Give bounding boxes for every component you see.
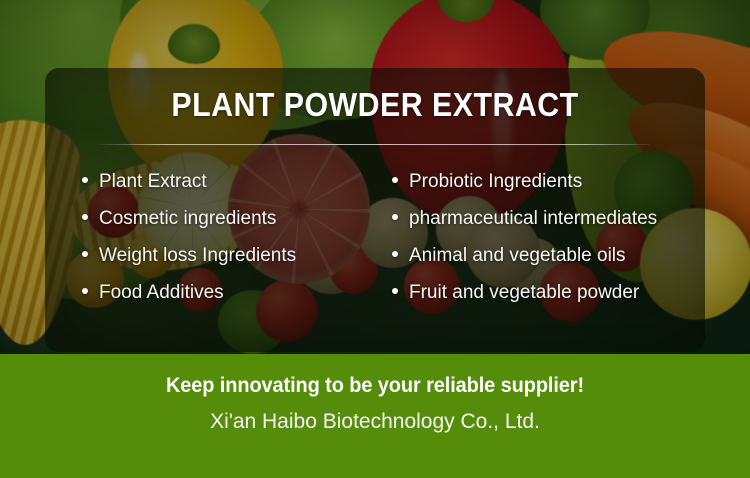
page-title: PLANT POWDER EXTRACT [71, 88, 678, 121]
bullet-icon [392, 177, 398, 183]
list-item[interactable]: Probiotic Ingredients [392, 172, 705, 209]
list-item-label: pharmaceutical intermediates [409, 209, 657, 228]
product-banner: PLANT POWDER EXTRACT Plant Extract Cosme… [0, 0, 750, 478]
bullet-icon [82, 251, 88, 257]
list-item-label: Fruit and vegetable powder [409, 283, 639, 302]
list-item[interactable]: Plant Extract [82, 172, 375, 209]
product-column-left: Plant Extract Cosmetic ingredients Weigh… [45, 172, 375, 320]
list-item[interactable]: Fruit and vegetable powder [392, 283, 705, 320]
title-divider [100, 144, 650, 145]
list-item-label: Weight loss Ingredients [99, 246, 296, 265]
footer-band: Keep innovating to be your reliable supp… [0, 354, 750, 478]
footer-slogan: Keep innovating to be your reliable supp… [19, 374, 732, 398]
bullet-icon [82, 214, 88, 220]
list-item-label: Cosmetic ingredients [99, 209, 276, 228]
list-item-label: Probiotic Ingredients [409, 172, 582, 191]
bullet-icon [82, 177, 88, 183]
bullet-icon [82, 288, 88, 294]
company-name: Xi'an Haibo Biotechnology Co., Ltd. [0, 410, 750, 434]
pepper-stem [168, 24, 220, 64]
list-item[interactable]: Cosmetic ingredients [82, 209, 375, 246]
list-item-label: Food Additives [99, 283, 224, 302]
product-category-columns: Plant Extract Cosmetic ingredients Weigh… [45, 172, 705, 320]
list-item-label: Plant Extract [99, 172, 207, 191]
product-column-right: Probiotic Ingredients pharmaceutical int… [375, 172, 705, 320]
list-item[interactable]: Food Additives [82, 283, 375, 320]
content-panel: PLANT POWDER EXTRACT Plant Extract Cosme… [45, 68, 705, 352]
list-item[interactable]: Animal and vegetable oils [392, 246, 705, 283]
list-item-label: Animal and vegetable oils [409, 246, 626, 265]
bullet-icon [392, 251, 398, 257]
list-item[interactable]: Weight loss Ingredients [82, 246, 375, 283]
bullet-icon [392, 214, 398, 220]
list-item[interactable]: pharmaceutical intermediates [392, 209, 705, 246]
bullet-icon [392, 288, 398, 294]
